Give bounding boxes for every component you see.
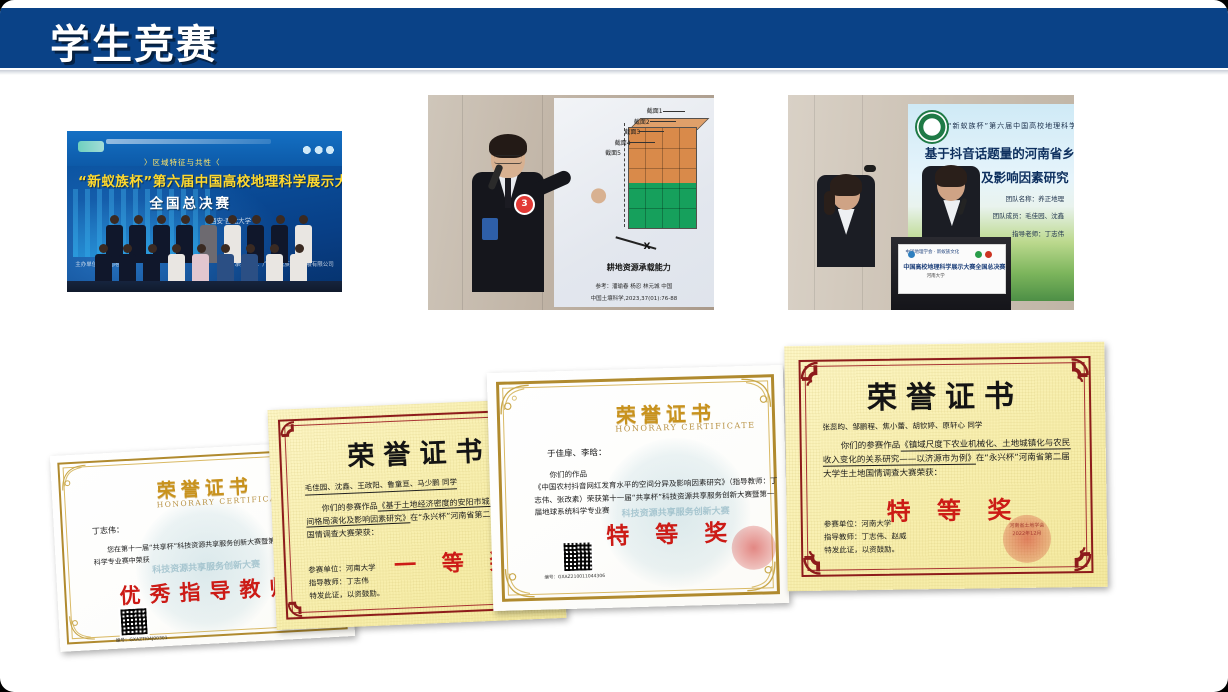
cert4-meta-advisor: 指导教师：丁志伟、赵威 (824, 530, 907, 544)
photo3-podium-plate: 中国地理学会 · 新蚁族文化 中国高校地理科学展示大赛全国总决赛 河南大学 (898, 244, 1006, 294)
photo1-banner-topline (106, 139, 271, 144)
photo2-section-label-5: 截面5 (605, 148, 621, 157)
photo2-wall-seam (462, 95, 463, 310)
photo3-presenter-right-hair (935, 165, 967, 187)
cert3-body: 你们的作品《中国农村抖音网红发育水平的空间分异及影响因素研究》（指导教师：丁志伟… (533, 463, 780, 519)
photo3-podium: 中国地理学会 · 新蚁族文化 中国高校地理科学展示大赛全国总决赛 河南大学 (891, 237, 1011, 310)
cert4-meta-note: 特发此证，以资鼓励。 (824, 543, 907, 557)
photo2-section-label-2: 截面2 (634, 117, 650, 126)
cert4-recipient: 张蕊昀、邹鹏程、焦小蕾、胡钦婷、原轩心 同学 (822, 419, 982, 432)
cert4-seal-text: 河南省土地学会 2022年12月 (995, 522, 1059, 538)
photo2-contestant-number-badge: 3 (514, 194, 535, 215)
photo-speaker-presentation: 截面1 截面2 截面3 截面4 截面5 X 耕地资源承载能力 参考：潘瑜春 杨忍… (428, 95, 714, 310)
header-banner: 学生竞赛 (0, 8, 1228, 68)
photo2-lanyard-card (482, 218, 498, 240)
photo3-presenter-left-hair (830, 174, 862, 196)
page-title: 学生竞赛 (50, 20, 218, 70)
cert2-title: 荣誉证书 (347, 429, 493, 474)
photo3-presenter-left (817, 177, 875, 310)
photo2-speaker-figure: 3 (468, 138, 548, 310)
photo-group-finals: 〉区域特征与共性〈 “新蚁族杯”第六届中国高校地理科学展示大赛 全国总决赛 西安… (67, 131, 342, 292)
slide-root: 学生竞赛 〉区域特征与共性〈 “新蚁族杯”第六届中国高校地理科学展示大赛 全国总… (0, 0, 1228, 692)
photo3-podium-logo-icon (985, 251, 992, 258)
photo3-slide-team-members: 团队成员：毛佳园、沈鑫 (993, 210, 1065, 220)
photo2-projection-screen: 截面1 截面2 截面3 截面4 截面5 X 耕地资源承载能力 参考：潘瑜春 杨忍… (554, 98, 714, 307)
cert4-meta-unit: 参赛单位：河南大学 (824, 517, 907, 531)
photo1-banner-subtitle: 〉区域特征与共性〈 (144, 157, 221, 168)
cert4-title: 荣誉证书 (867, 371, 1024, 417)
photo2-speaker-glasses-icon (494, 155, 522, 164)
photo2-slide-caption: 耕地资源承载能力 (567, 262, 711, 273)
cert4-seal-date: 2022年12月 (995, 530, 1059, 538)
photo3-wall-seam (814, 95, 815, 310)
cert2-body-lead: 你们的参赛作品 (321, 502, 377, 513)
photo2-x-axis-label: X (644, 242, 651, 252)
photo3-slide-team-name: 团队名称：养正地理 (1006, 193, 1065, 203)
photo3-slide-title-line2: 及影响因素研究 (981, 167, 1069, 186)
cert4-body-lead: 你们的参赛作品 (841, 441, 901, 452)
photo-two-presenters: “新蚁族杯”第六届中国高校地理科学展示大赛 基于抖音话题量的河南省乡村旅游空间格… (788, 95, 1074, 310)
cert3-recipient: 于佳扉、李晗： (547, 446, 607, 460)
photo2-section-label-1: 截面1 (647, 106, 663, 115)
photo2-speaker-tie (505, 178, 511, 208)
photo1-banner-line1: “新蚁族杯”第六届中国高校地理科学展示大赛 (78, 170, 342, 190)
photo2-slide-reference-1: 参考：潘瑜春 杨忍 林元城 中国 (557, 282, 711, 290)
photo1-ground (67, 281, 342, 292)
cert3-qr-code-icon[interactable] (561, 540, 594, 573)
photo1-banner-line2: 全国总决赛 (150, 192, 233, 212)
cert4-meta: 参赛单位：河南大学 指导教师：丁志伟、赵威 特发此证，以资鼓励。 (824, 517, 907, 558)
photo3-podium-line3: 河南大学 (927, 273, 945, 279)
photo3-podium-logo-icon (908, 251, 915, 258)
photo3-mic-stand (871, 203, 873, 237)
photo3-university-emblem-icon (915, 110, 949, 144)
photo3-podium-line2: 中国高校地理科学展示大赛全国总决赛 (903, 262, 1005, 271)
certificate-grand-prize-jiyuan[interactable]: 荣誉证书 张蕊昀、邹鹏程、焦小蕾、胡钦婷、原轩心 同学 你们的参赛作品《镇域尺度… (784, 342, 1107, 591)
photo3-slide-competition: “新蚁族杯”第六届中国高校地理科学展示大赛 (948, 121, 1074, 131)
photo2-slide-reference-2: 中国土壤科学,2023,37(01):76-88 (557, 294, 711, 302)
cert4-body: 你们的参赛作品《镇域尺度下农业机械化、土地城镇化与农民收入变化的关系研究——以济… (823, 436, 1078, 482)
photo3-slide-title-line1: 基于抖音话题量的河南省乡村旅游空间格局 (925, 143, 1074, 162)
photo1-right-logos-icon (300, 144, 334, 156)
certificate-grand-prize-douyin[interactable]: 科技资源共享服务创新大赛 荣誉证书 HONORARY CERTIFICATE 于… (487, 365, 790, 611)
photo3-presenter-left-ponytail (824, 191, 835, 215)
cert4-award: 特 等 奖 (886, 490, 1020, 527)
photo1-left-logo-icon (78, 141, 104, 152)
cert2-meta: 参赛单位：河南大学 指导教师：丁志伟 特发此证，以资鼓励。 (308, 560, 385, 602)
photo3-mic-head-icon (864, 165, 876, 172)
cert1-recipient: 丁志伟： (92, 524, 125, 537)
cert1-qr-code-icon[interactable] (118, 606, 150, 638)
photo3-presenter-right-head-group (937, 168, 965, 201)
photo3-slide-advisor: 指导老师：丁志伟 (1012, 228, 1064, 238)
photo3-podium-logo-icon (975, 251, 982, 258)
photo3-presenter-left-head-group (832, 177, 860, 210)
cert3-body-lead: 你们的作品 (549, 469, 587, 479)
cert3-award: 特 等 奖 (606, 513, 737, 551)
